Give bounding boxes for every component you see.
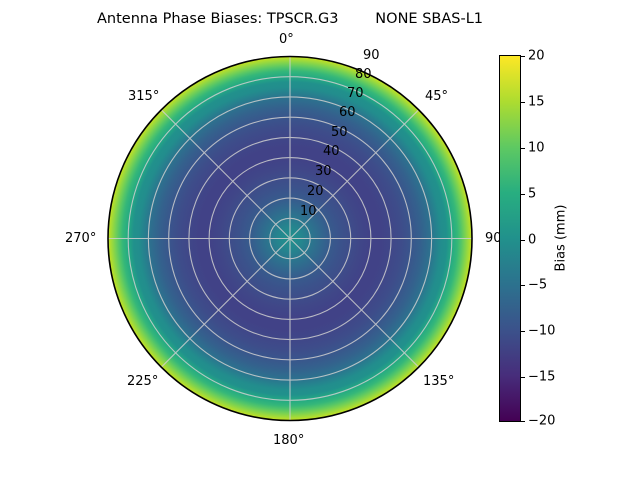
colorbar-tick-10 (521, 148, 525, 149)
r-tick-20: 20 (307, 185, 324, 198)
colorbar-tick-m15 (521, 377, 525, 378)
colorbar-ticklabel-m10: −10 (528, 325, 555, 338)
colorbar-tick-15 (521, 102, 525, 103)
theta-tick-180: 180° (273, 434, 304, 447)
colorbar-tick-m10 (521, 331, 525, 332)
matplotlib-figure: Antenna Phase Biases: TPSCR.G3 NONE SBAS… (0, 0, 640, 480)
r-tick-50: 50 (331, 126, 348, 139)
colorbar-tick-20 (521, 56, 525, 57)
colorbar-ticklabel-m5: −5 (528, 279, 547, 292)
chart-title: Antenna Phase Biases: TPSCR.G3 NONE SBAS… (0, 10, 580, 28)
r-tick-30: 30 (315, 165, 332, 178)
theta-tick-270: 270° (65, 232, 96, 245)
r-tick-40: 40 (323, 145, 340, 158)
colorbar-axis-label: Bias (mm) (555, 205, 568, 272)
polar-axes: 0° 45° 90 135° 180° 225° 270° 315° 10 20… (107, 55, 473, 422)
r-tick-70: 70 (347, 87, 364, 100)
colorbar-axes: 20 15 10 5 0 −5 −10 −15 −20 (499, 55, 521, 422)
theta-tick-45: 45° (425, 90, 448, 103)
theta-tick-315: 315° (128, 90, 159, 103)
colorbar-ticklabel-5: 5 (528, 187, 536, 200)
colorbar-ticklabel-m15: −15 (528, 371, 555, 384)
colorbar-tick-5 (521, 194, 525, 195)
r-tick-90: 90 (363, 49, 380, 62)
colorbar-ticklabel-0: 0 (528, 233, 536, 246)
colorbar-ticklabel-15: 15 (528, 95, 545, 108)
colorbar-tick-0 (521, 240, 525, 241)
theta-tick-135: 135° (423, 375, 454, 388)
theta-tick-0: 0° (279, 33, 294, 46)
colorbar-ticklabel-10: 10 (528, 141, 545, 154)
colorbar-ticklabel-m20: −20 (528, 415, 555, 428)
polar-plot-svg (107, 55, 473, 422)
polar-grid (108, 57, 472, 421)
theta-tick-225: 225° (127, 375, 158, 388)
r-tick-60: 60 (339, 106, 356, 119)
colorbar-ticklabel-20: 20 (528, 50, 545, 63)
r-tick-10: 10 (300, 205, 317, 218)
colorbar-tick-m20 (521, 421, 525, 422)
colorbar-tick-m5 (521, 285, 525, 286)
r-tick-80: 80 (355, 68, 372, 81)
colorbar-gradient (499, 55, 521, 422)
